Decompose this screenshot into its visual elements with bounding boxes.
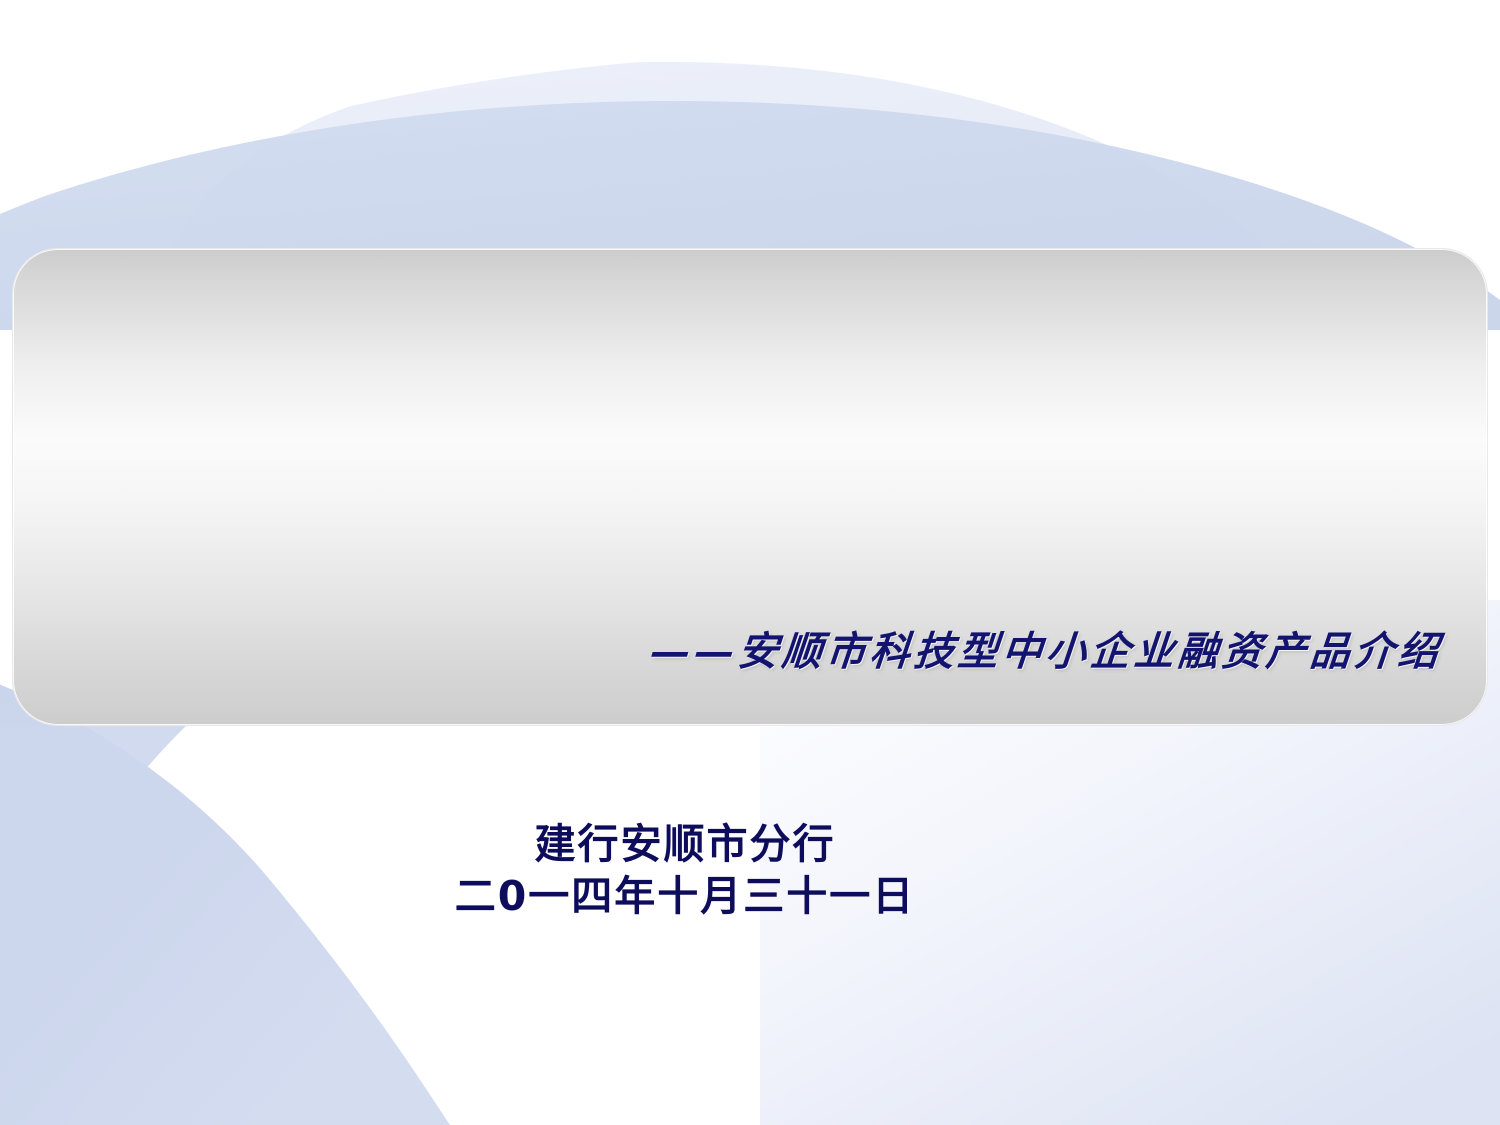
- footer-block: 建行安顺市分行 二0一四年十月三十一日: [0, 818, 1500, 923]
- subtitle: ——安顺市科技型中小企业融资产品介绍: [648, 632, 1443, 672]
- title-slide: 抓住历史新机遇 立足本地谋发展 ——安顺市科技型中小企业融资产品介绍 建行安顺市…: [0, 0, 1500, 1125]
- footer-organization: 建行安顺市分行: [0, 818, 1370, 870]
- footer-date: 二0一四年十月三十一日: [0, 870, 1370, 922]
